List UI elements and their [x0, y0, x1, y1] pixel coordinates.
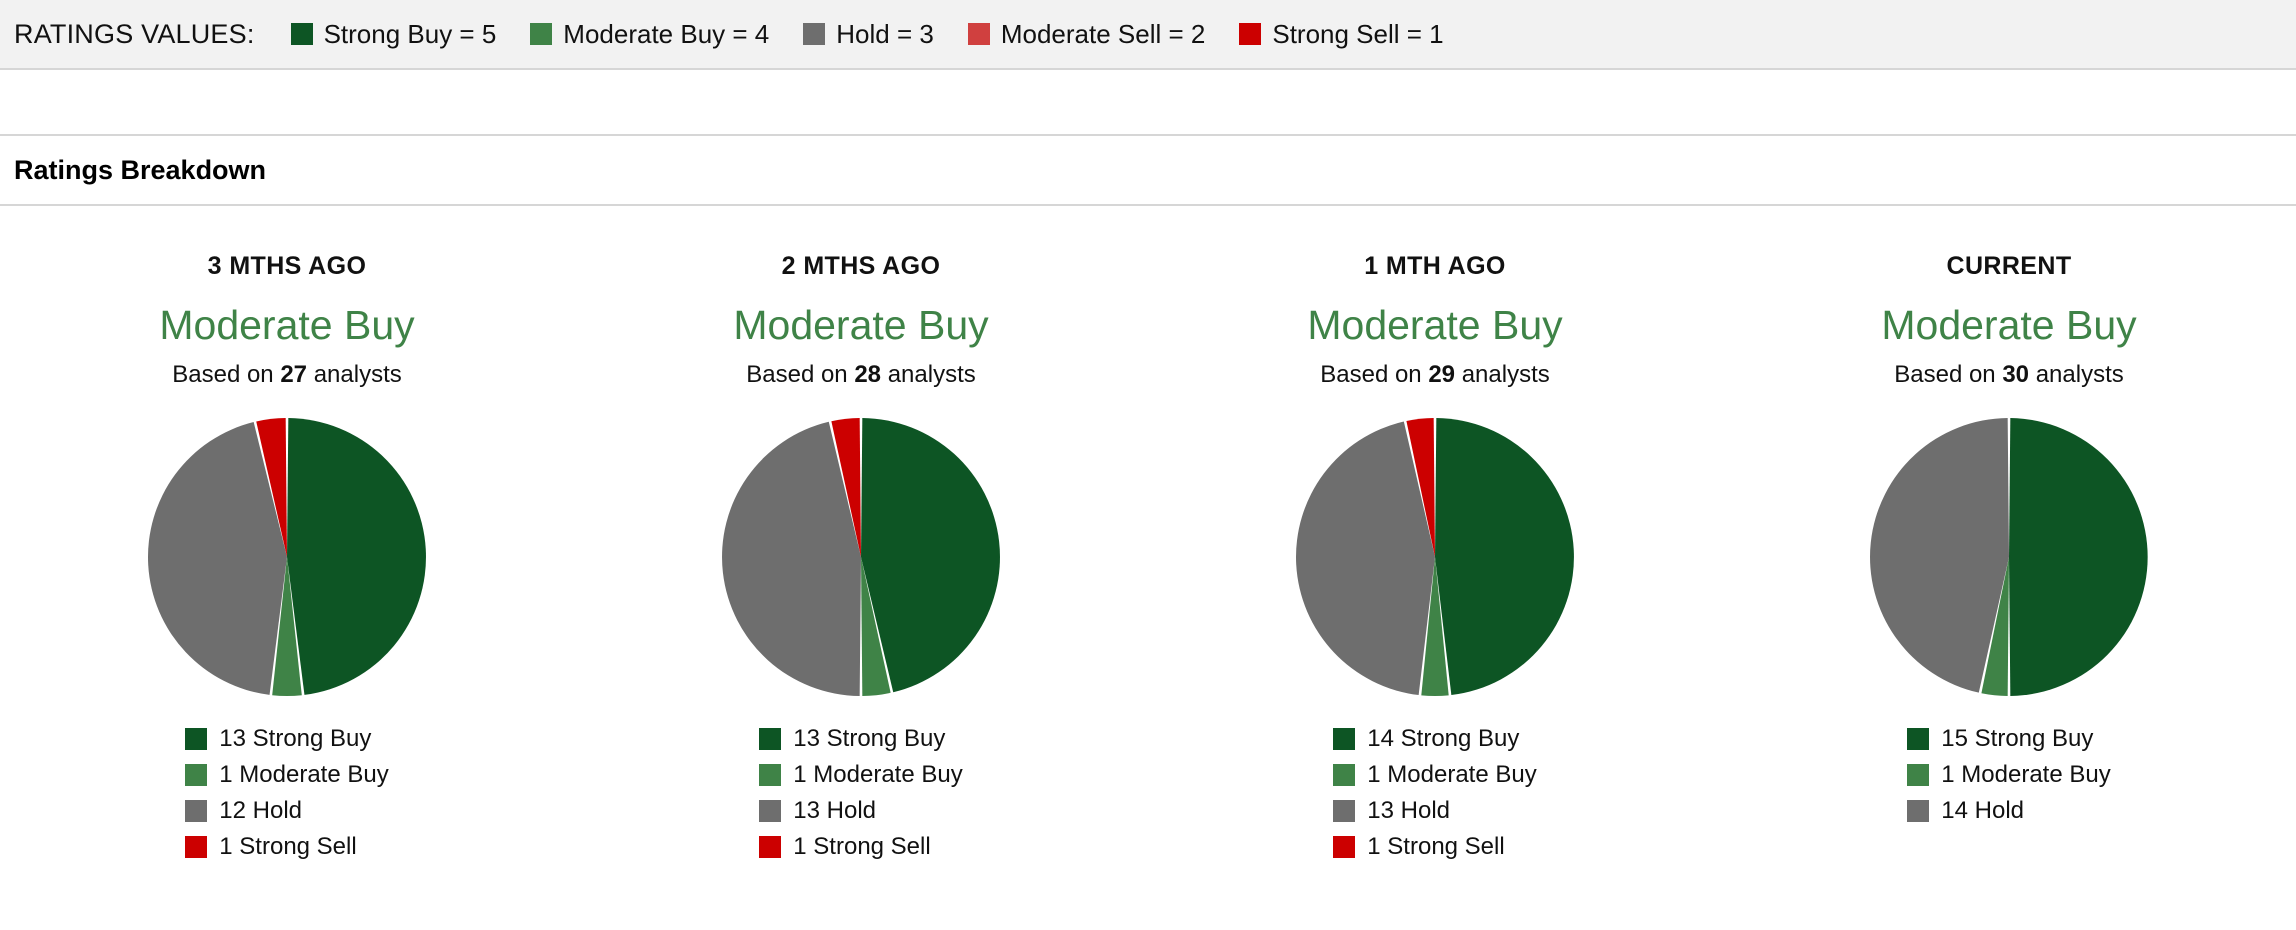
pie-chart-container	[1859, 407, 2159, 707]
ratings-value-item: Strong Buy = 5	[291, 19, 497, 50]
square-swatch-icon	[1333, 836, 1355, 858]
pie-legend: 15 Strong Buy1 Moderate Buy14 Hold	[1907, 721, 2110, 829]
analyst-count-value: 27	[280, 361, 307, 388]
square-swatch-icon	[185, 836, 207, 858]
legend-item: 1 Moderate Buy	[1907, 757, 2110, 793]
square-swatch-icon	[530, 23, 552, 45]
spacer-band	[0, 70, 2296, 136]
square-swatch-icon	[1907, 728, 1929, 750]
legend-item: 13 Hold	[1333, 793, 1450, 829]
consensus-rating: Moderate Buy	[1307, 303, 1562, 347]
analyst-count-suffix: analysts	[307, 361, 402, 388]
analyst-count-prefix: Based on	[1894, 361, 2002, 388]
square-swatch-icon	[1907, 800, 1929, 822]
legend-item: 15 Strong Buy	[1907, 721, 2093, 757]
ratings-value-item: Moderate Buy = 4	[530, 19, 769, 50]
square-swatch-icon	[759, 764, 781, 786]
legend-item-label: 1 Strong Sell	[219, 833, 356, 861]
legend-item-label: 15 Strong Buy	[1941, 725, 2093, 753]
consensus-rating: Moderate Buy	[159, 303, 414, 347]
pie-chart-container	[711, 407, 1011, 707]
pie-chart-container	[137, 407, 437, 707]
square-swatch-icon	[1239, 23, 1261, 45]
square-swatch-icon	[1333, 764, 1355, 786]
legend-item: 13 Hold	[759, 793, 876, 829]
analyst-count-suffix: analysts	[2029, 361, 2124, 388]
legend-item: 13 Strong Buy	[759, 721, 945, 757]
square-swatch-icon	[759, 836, 781, 858]
ratings-breakdown-grid: 3 MTHS AGOModerate BuyBased on 27 analys…	[0, 206, 2296, 865]
legend-item: 12 Hold	[185, 793, 302, 829]
legend-item-label: 14 Hold	[1941, 797, 2024, 825]
page-title: Ratings Breakdown	[14, 155, 266, 186]
legend-item: 1 Moderate Buy	[185, 757, 388, 793]
analyst-count-value: 29	[1428, 361, 1455, 388]
pie-legend: 13 Strong Buy1 Moderate Buy12 Hold1 Stro…	[185, 721, 388, 865]
legend-item-label: 1 Strong Sell	[793, 833, 930, 861]
ratings-value-label: Strong Buy = 5	[324, 19, 497, 50]
square-swatch-icon	[1333, 800, 1355, 822]
ratings-values-title: RATINGS VALUES:	[14, 19, 255, 50]
legend-item-label: 1 Moderate Buy	[1367, 761, 1536, 789]
analyst-count-value: 30	[2002, 361, 2029, 388]
legend-item: 1 Moderate Buy	[759, 757, 962, 793]
pie-legend: 14 Strong Buy1 Moderate Buy13 Hold1 Stro…	[1333, 721, 1536, 865]
square-swatch-icon	[185, 800, 207, 822]
pie-slice	[2009, 418, 2148, 696]
ratings-breakdown-column: 1 MTH AGOModerate BuyBased on 29 analyst…	[1148, 252, 1722, 865]
legend-item-label: 1 Moderate Buy	[219, 761, 388, 789]
legend-item-label: 1 Moderate Buy	[793, 761, 962, 789]
ratings-value-label: Strong Sell = 1	[1272, 19, 1443, 50]
analyst-count-prefix: Based on	[746, 361, 854, 388]
legend-item: 1 Moderate Buy	[1333, 757, 1536, 793]
legend-item: 14 Strong Buy	[1333, 721, 1519, 757]
analyst-count-prefix: Based on	[172, 361, 280, 388]
analyst-count-suffix: analysts	[1455, 361, 1550, 388]
analyst-count-text: Based on 29 analysts	[1320, 361, 1550, 389]
ratings-value-label: Moderate Sell = 2	[1001, 19, 1206, 50]
analyst-count-text: Based on 28 analysts	[746, 361, 976, 389]
ratings-value-item: Strong Sell = 1	[1239, 19, 1443, 50]
period-label: 3 MTHS AGO	[208, 252, 367, 281]
legend-item-label: 13 Strong Buy	[793, 725, 945, 753]
ratings-value-item: Moderate Sell = 2	[968, 19, 1206, 50]
ratings-value-label: Moderate Buy = 4	[563, 19, 769, 50]
ratings-values-bar: RATINGS VALUES: Strong Buy = 5Moderate B…	[0, 0, 2296, 70]
analyst-count-text: Based on 30 analysts	[1894, 361, 2124, 389]
pie-slice	[1296, 422, 1435, 695]
legend-item: 1 Strong Sell	[1333, 829, 1504, 865]
square-swatch-icon	[968, 23, 990, 45]
square-swatch-icon	[803, 23, 825, 45]
legend-item-label: 13 Strong Buy	[219, 725, 371, 753]
pie-slice	[1435, 418, 1574, 695]
pie-chart-container	[1285, 407, 1585, 707]
period-label: 2 MTHS AGO	[782, 252, 941, 281]
square-swatch-icon	[1333, 728, 1355, 750]
square-swatch-icon	[759, 728, 781, 750]
ratings-value-item: Hold = 3	[803, 19, 934, 50]
pie-slice	[287, 418, 426, 695]
ratings-breakdown-column: 2 MTHS AGOModerate BuyBased on 28 analys…	[574, 252, 1148, 865]
legend-item-label: 13 Hold	[793, 797, 876, 825]
ratings-value-label: Hold = 3	[836, 19, 934, 50]
legend-item-label: 13 Hold	[1367, 797, 1450, 825]
legend-item: 1 Strong Sell	[759, 829, 930, 865]
square-swatch-icon	[291, 23, 313, 45]
period-label: 1 MTH AGO	[1364, 252, 1506, 281]
period-label: CURRENT	[1946, 252, 2071, 281]
analyst-count-text: Based on 27 analysts	[172, 361, 402, 389]
legend-item-label: 12 Hold	[219, 797, 302, 825]
ratings-pie-chart	[1864, 412, 2154, 702]
legend-item: 14 Hold	[1907, 793, 2024, 829]
ratings-breakdown-column: CURRENTModerate BuyBased on 30 analysts1…	[1722, 252, 2296, 865]
ratings-values-legend: Strong Buy = 5Moderate Buy = 4Hold = 3Mo…	[291, 19, 1478, 50]
analyst-count-prefix: Based on	[1320, 361, 1428, 388]
pie-slice	[861, 418, 1000, 692]
square-swatch-icon	[185, 764, 207, 786]
legend-item: 1 Strong Sell	[185, 829, 356, 865]
ratings-breakdown-header: Ratings Breakdown	[0, 136, 2296, 206]
legend-item: 13 Strong Buy	[185, 721, 371, 757]
consensus-rating: Moderate Buy	[1881, 303, 2136, 347]
ratings-pie-chart	[142, 412, 432, 702]
square-swatch-icon	[1907, 764, 1929, 786]
square-swatch-icon	[759, 800, 781, 822]
legend-item-label: 1 Strong Sell	[1367, 833, 1504, 861]
ratings-pie-chart	[1290, 412, 1580, 702]
pie-slice	[1870, 418, 2009, 693]
ratings-pie-chart	[716, 412, 1006, 702]
analyst-count-suffix: analysts	[881, 361, 976, 388]
pie-slice	[722, 422, 861, 696]
ratings-breakdown-column: 3 MTHS AGOModerate BuyBased on 27 analys…	[0, 252, 574, 865]
square-swatch-icon	[185, 728, 207, 750]
analyst-count-value: 28	[854, 361, 881, 388]
legend-item-label: 1 Moderate Buy	[1941, 761, 2110, 789]
legend-item-label: 14 Strong Buy	[1367, 725, 1519, 753]
consensus-rating: Moderate Buy	[733, 303, 988, 347]
pie-legend: 13 Strong Buy1 Moderate Buy13 Hold1 Stro…	[759, 721, 962, 865]
